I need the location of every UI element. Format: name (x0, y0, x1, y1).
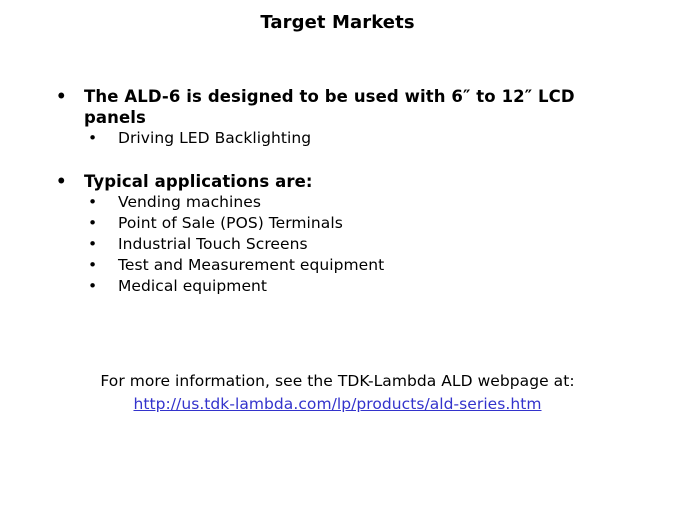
bullet-level2-item: •Point of Sale (POS) Terminals (0, 213, 675, 234)
bullet-level2-item: •Driving LED Backlighting (0, 128, 675, 149)
bullet-dot-icon: • (88, 128, 97, 149)
bullet-level2-list: •Vending machines •Point of Sale (POS) T… (0, 192, 675, 297)
bullet-level2-text: Test and Measurement equipment (118, 256, 384, 274)
bullet-dot-icon: • (88, 192, 97, 213)
bullet-group-1: •The ALD-6 is designed to be used with 6… (0, 86, 675, 149)
bullet-level2-text: Industrial Touch Screens (118, 235, 308, 253)
bullet-level2-list: •Driving LED Backlighting (0, 128, 675, 149)
bullet-dot-icon: • (88, 213, 97, 234)
ald-series-webpage-link[interactable]: http://us.tdk-lambda.com/lp/products/ald… (133, 395, 541, 413)
footer-link-row: http://us.tdk-lambda.com/lp/products/ald… (0, 393, 675, 416)
bullet-level2-item: •Vending machines (0, 192, 675, 213)
bullet-dot-icon: • (88, 234, 97, 255)
footer-text: For more information, see the TDK-Lambda… (0, 370, 675, 393)
bullet-level1-text: Typical applications are: (84, 172, 313, 191)
bullet-level2-text: Driving LED Backlighting (118, 129, 311, 147)
bullet-level2-item: •Industrial Touch Screens (0, 234, 675, 255)
bullet-level2-text: Medical equipment (118, 277, 267, 295)
bullet-dot-icon: • (88, 276, 97, 297)
footer-block: For more information, see the TDK-Lambda… (0, 370, 675, 416)
bullet-level1-item: •The ALD-6 is designed to be used with 6… (0, 86, 675, 128)
bullet-dot-icon: • (56, 86, 67, 107)
bullet-level2-text: Vending machines (118, 193, 261, 211)
bullet-level2-item: •Test and Measurement equipment (0, 255, 675, 276)
bullet-level2-item: •Medical equipment (0, 276, 675, 297)
bullet-dot-icon: • (56, 171, 67, 192)
slide-title: Target Markets (0, 10, 675, 36)
bullet-level1-item: •Typical applications are: (0, 171, 675, 192)
bullet-dot-icon: • (88, 255, 97, 276)
bullet-level1-text: The ALD-6 is designed to be used with 6″… (84, 87, 575, 127)
presentation-slide: Target Markets •The ALD-6 is designed to… (0, 0, 675, 506)
bullet-group-2: •Typical applications are: •Vending mach… (0, 171, 675, 297)
bullet-level2-text: Point of Sale (POS) Terminals (118, 214, 343, 232)
bullet-group-spacer (0, 149, 675, 171)
slide-body: •The ALD-6 is designed to be used with 6… (0, 86, 675, 297)
